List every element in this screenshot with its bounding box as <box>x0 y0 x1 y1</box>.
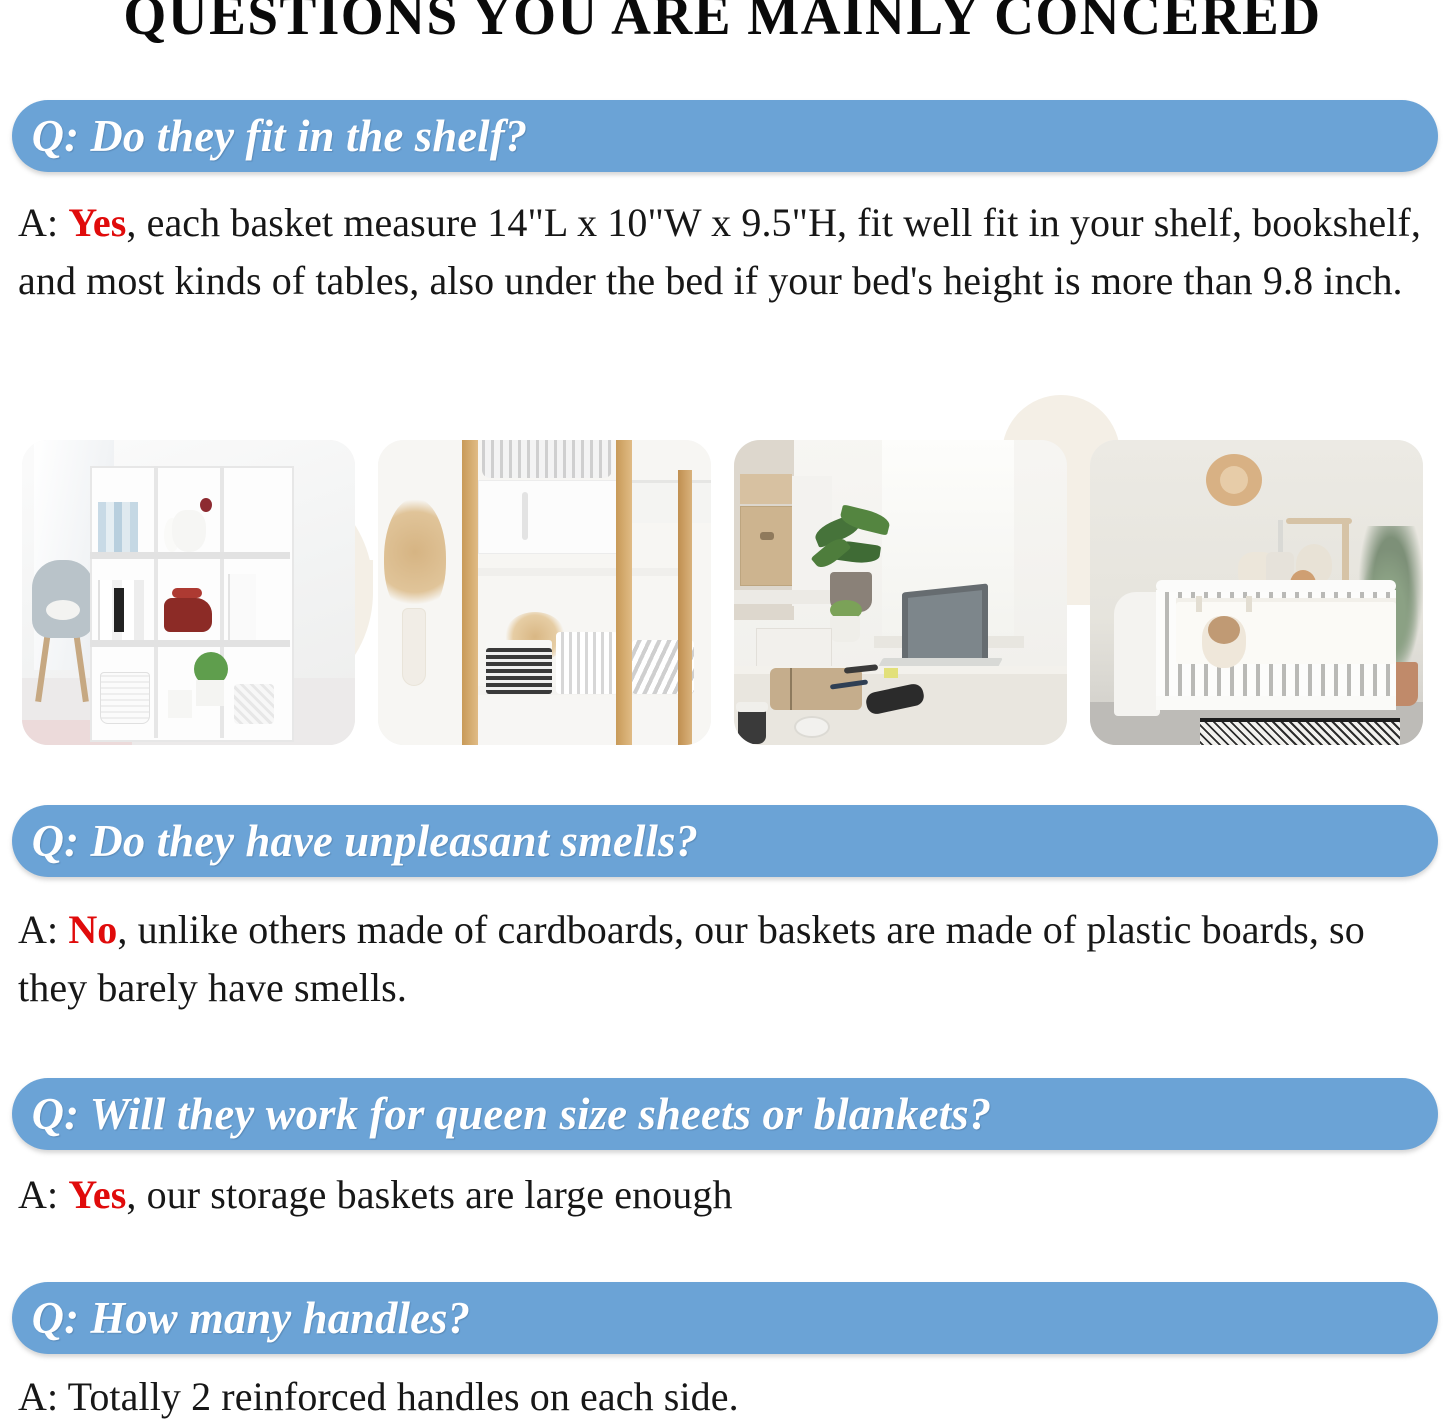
question-text: Q: Do they fit in the shelf? <box>12 113 527 159</box>
question-text: Q: Will they work for queen size sheets … <box>12 1091 991 1137</box>
answer-highlight: Yes <box>68 200 126 245</box>
answer-smells: A: No, unlike others made of cardboards,… <box>18 901 1435 1017</box>
photo-home-office <box>734 440 1067 745</box>
question-pill-queen-sheets: Q: Will they work for queen size sheets … <box>12 1078 1438 1150</box>
faq-block-queen-sheets: Q: Will they work for queen size sheets … <box>0 1078 1445 1224</box>
question-pill-handles: Q: How many handles? <box>12 1282 1438 1354</box>
page-title: QUESTIONS YOU ARE MAINLY CONCERED <box>11 0 1434 46</box>
answer-prefix: A: <box>18 200 68 245</box>
faq-block-smells: Q: Do they have unpleasant smells? A: No… <box>0 805 1445 1017</box>
answer-rest: Totally 2 reinforced handles on each sid… <box>68 1374 739 1419</box>
answer-rest: , our storage baskets are large enough <box>126 1172 732 1217</box>
question-text: Q: How many handles? <box>12 1295 470 1341</box>
faq-block-handles: Q: How many handles? A: Totally 2 reinfo… <box>0 1282 1445 1426</box>
photo-nursery <box>1090 440 1423 745</box>
answer-prefix: A: <box>18 1374 68 1419</box>
question-pill-smells: Q: Do they have unpleasant smells? <box>12 805 1438 877</box>
answer-rest: , unlike others made of cardboards, our … <box>18 907 1365 1010</box>
answer-prefix: A: <box>18 907 68 952</box>
answer-prefix: A: <box>18 1172 68 1217</box>
answer-queen-sheets: A: Yes, our storage baskets are large en… <box>18 1166 1435 1224</box>
answer-highlight: Yes <box>68 1172 126 1217</box>
photo-cube-shelf <box>22 440 355 745</box>
answer-rest: , each basket measure 14"L x 10"W x 9.5"… <box>18 200 1421 303</box>
answer-highlight: No <box>68 907 117 952</box>
answer-handles: A: Totally 2 reinforced handles on each … <box>18 1368 1435 1426</box>
photo-bamboo-rack <box>378 440 711 745</box>
answer-shelf-fit: A: Yes, each basket measure 14"L x 10"W … <box>18 194 1435 310</box>
question-pill-shelf-fit: Q: Do they fit in the shelf? <box>12 100 1438 172</box>
question-text: Q: Do they have unpleasant smells? <box>12 818 698 864</box>
faq-block-shelf-fit: Q: Do they fit in the shelf? A: Yes, eac… <box>0 100 1445 310</box>
